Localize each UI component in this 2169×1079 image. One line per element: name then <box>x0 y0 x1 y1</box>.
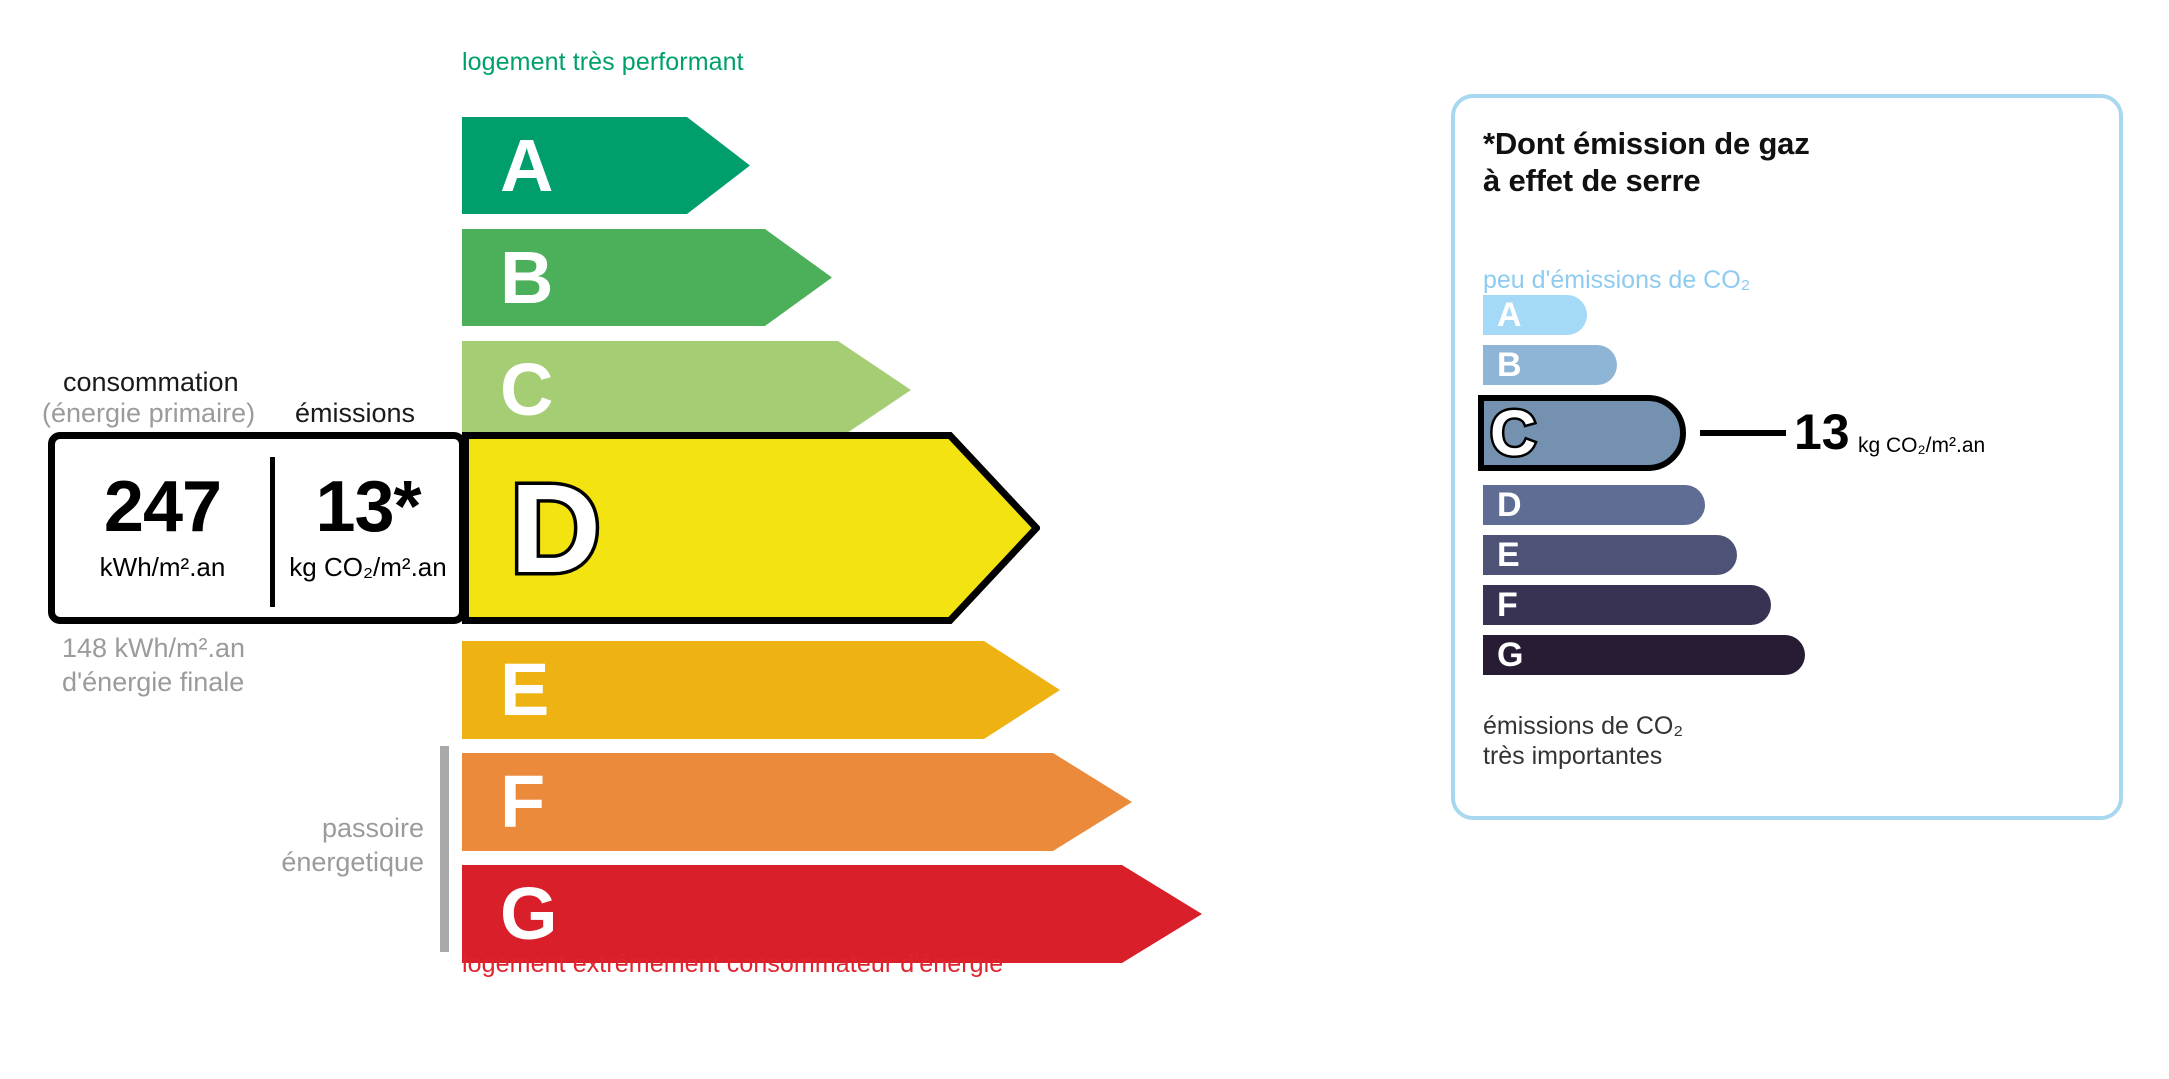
ges-box-unit: kg CO₂/m².an <box>289 552 446 583</box>
energy-band-a: A <box>462 117 750 214</box>
energy-band-e: E <box>462 641 1060 739</box>
ges-bottom-caption: émissions de CO₂très importantes <box>1483 711 1683 771</box>
ges-bar-letter-f: F <box>1497 588 1518 622</box>
ges-bar-letter-g: G <box>1497 638 1523 672</box>
primary-energy-value-group: 247 kWh/m².an <box>55 439 270 617</box>
ges-bar-letter-d: D <box>1497 488 1522 522</box>
energy-band-g: G <box>462 865 1202 963</box>
ges-bar-g: G <box>1483 635 1805 675</box>
energy-top-caption: logement très performant <box>462 48 744 77</box>
energy-band-d: D <box>462 432 1040 624</box>
ges-bar-b: B <box>1483 345 1617 385</box>
energy-band-shape <box>462 341 911 439</box>
ges-box-value: 13* <box>315 473 420 541</box>
ges-bar-d: D <box>1483 485 1705 525</box>
ges-active-letter: C <box>1490 401 1536 465</box>
energy-band-shape <box>462 753 1132 851</box>
energy-band-shape <box>462 865 1202 963</box>
energy-band-shape <box>462 229 832 326</box>
energy-band-shape <box>462 117 750 214</box>
energy-band-shape <box>462 641 1060 739</box>
ges-bar-letter-a: A <box>1497 298 1522 332</box>
ges-value: 13 <box>1794 407 1850 457</box>
ges-bar-a: A <box>1483 295 1587 335</box>
ges-value-unit: kg CO₂/m².an <box>1858 434 1985 458</box>
passoire-energetique-label: passoireénergetique <box>200 812 424 880</box>
primary-energy-unit: kWh/m².an <box>100 552 226 583</box>
ges-bar-letter-e: E <box>1497 538 1520 572</box>
ges-bar-fill <box>1483 585 1771 625</box>
ges-bar-fill <box>1483 535 1737 575</box>
label-emissions: émissions <box>295 398 415 429</box>
primary-energy-value: 247 <box>104 473 221 541</box>
energy-performance-panel: logement très performant ABCDEFG consomm… <box>0 0 1400 1079</box>
final-energy-label: 148 kWh/m².and'énergie finale <box>62 632 245 700</box>
energy-value-box: 247 kWh/m².an 13* kg CO₂/m².an <box>48 432 466 624</box>
energy-band-shape: D <box>462 432 1040 624</box>
ges-title: *Dont émission de gazà effet de serre <box>1483 126 1810 199</box>
energy-band-b: B <box>462 229 832 326</box>
energy-band-f: F <box>462 753 1132 851</box>
ges-bar-e: E <box>1483 535 1737 575</box>
ges-value-group: 13* kg CO₂/m².an <box>277 439 459 617</box>
ges-bar-fill <box>1483 635 1805 675</box>
ges-bar-f: F <box>1483 585 1771 625</box>
energy-active-letter: D <box>510 458 601 599</box>
ges-connector-line <box>1700 430 1786 436</box>
label-consommation: consommation <box>63 367 239 398</box>
ges-top-caption: peu d'émissions de CO₂ <box>1483 266 1750 295</box>
ges-panel: *Dont émission de gazà effet de serre pe… <box>1451 94 2123 820</box>
ges-bar-letter-b: B <box>1497 348 1522 382</box>
value-box-divider <box>270 457 275 607</box>
passoire-energetique-bar <box>440 746 449 952</box>
energy-band-c: C <box>462 341 911 439</box>
energy-bottom-caption: logement extrêmement consommateur d'éner… <box>462 950 1003 979</box>
ges-bar-c-active: C <box>1478 395 1686 471</box>
label-energie-primaire: (énergie primaire) <box>42 398 255 429</box>
